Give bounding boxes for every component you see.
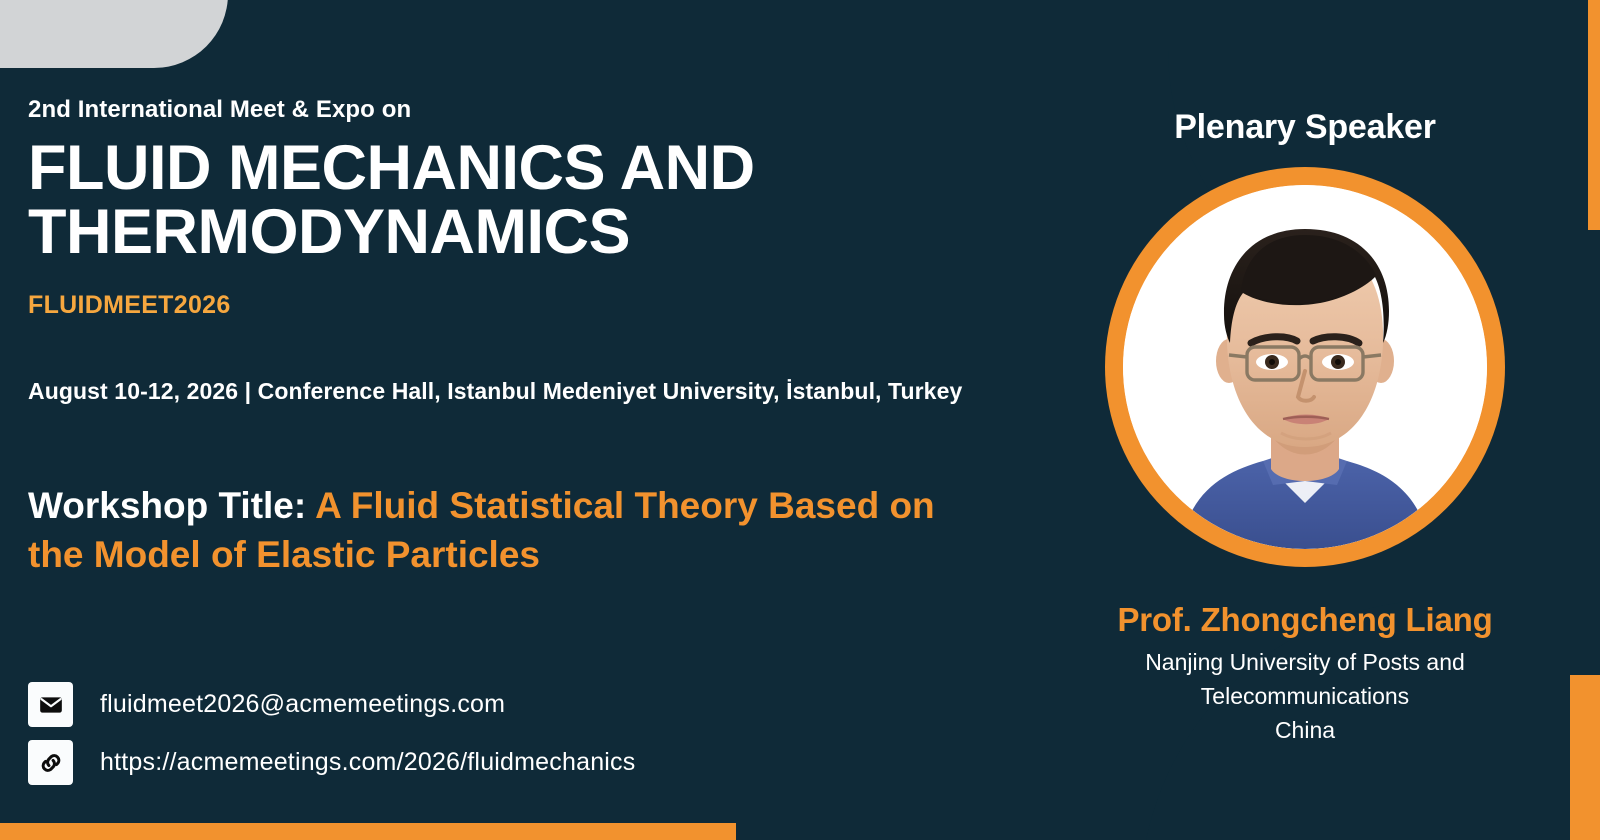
workshop-label: Workshop Title: xyxy=(28,485,306,526)
contact-website-row[interactable]: https://acmemeetings.com/2026/fluidmecha… xyxy=(28,740,1010,785)
workshop-title-block: Workshop Title: A Fluid Statistical Theo… xyxy=(28,481,988,579)
speaker-name: Prof. Zhongcheng Liang xyxy=(1117,601,1492,639)
event-eyebrow: 2nd International Meet & Expo on xyxy=(28,96,1010,124)
event-title-line-2: THERMODYNAMICS xyxy=(28,197,630,267)
speaker-avatar xyxy=(1123,185,1487,549)
speaker-affiliation-line-1: Nanjing University of Posts and xyxy=(1145,649,1465,675)
contact-email-row[interactable]: fluidmeet2026@acmemeetings.com xyxy=(28,682,1010,727)
event-date-venue: August 10-12, 2026 | Conference Hall, Is… xyxy=(28,378,1010,405)
conference-poster: 2nd International Meet & Expo on FLUID M… xyxy=(0,0,1600,840)
plenary-speaker-heading: Plenary Speaker xyxy=(1174,108,1436,147)
contact-website-text[interactable]: https://acmemeetings.com/2026/fluidmecha… xyxy=(100,748,635,777)
event-details-column: 2nd International Meet & Expo on FLUID M… xyxy=(0,0,1010,840)
speaker-affiliation: Nanjing University of Posts and Telecomm… xyxy=(1145,645,1465,747)
poster-content: 2nd International Meet & Expo on FLUID M… xyxy=(0,0,1600,840)
speaker-column: Plenary Speaker xyxy=(1010,0,1600,840)
speaker-photo-frame xyxy=(1105,167,1505,567)
event-code: FLUIDMEET2026 xyxy=(28,291,1010,320)
speaker-affiliation-line-2: Telecommunications xyxy=(1201,683,1409,709)
speaker-affiliation-line-3: China xyxy=(1275,717,1335,743)
event-title: FLUID MECHANICS AND THERMODYNAMICS xyxy=(28,136,848,265)
event-title-line-1: FLUID MECHANICS AND xyxy=(28,133,755,203)
contact-email-text[interactable]: fluidmeet2026@acmemeetings.com xyxy=(100,690,505,719)
contact-list: fluidmeet2026@acmemeetings.com https://a… xyxy=(28,682,1010,785)
envelope-icon xyxy=(28,682,73,727)
link-icon xyxy=(28,740,73,785)
